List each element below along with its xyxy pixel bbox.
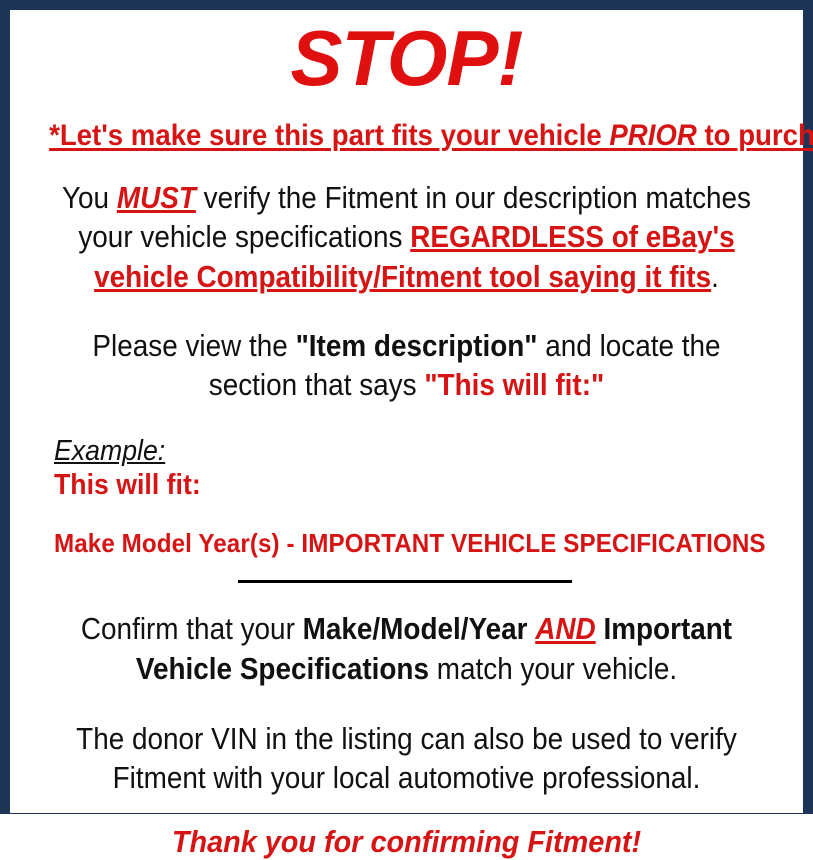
desc-emphasis-this-will-fit: "This will fit:"	[424, 367, 604, 402]
desc-emphasis-item-description: "Item description"	[296, 328, 538, 363]
example-spec-line: Make Model Year(s) - IMPORTANT VEHICLE S…	[54, 529, 743, 558]
confirm-emphasis-and: AND	[535, 611, 595, 646]
must-seg3: .	[711, 259, 719, 294]
subtitle-tail: to purchasing*	[697, 119, 813, 152]
confirm-emphasis-make-model-year: Make/Model/Year	[303, 611, 528, 646]
subtitle-emphasis-prior: PRIOR	[609, 119, 696, 152]
notice-content: STOP! *Let's make sure this part fits yo…	[10, 19, 803, 813]
confirm-seg1: Confirm that your	[81, 611, 303, 646]
must-seg1: You	[62, 180, 117, 215]
subtitle-lead: *Let's make sure this part fits your veh…	[49, 119, 609, 152]
subtitle-banner: *Let's make sure this part fits your veh…	[49, 119, 764, 152]
paragraph-confirm: Confirm that your Make/Model/Year AND Im…	[57, 609, 756, 688]
desc-seg1: Please view the	[92, 328, 295, 363]
example-label: Example:	[54, 435, 165, 467]
example-fit-heading: This will fit:	[54, 468, 736, 502]
thank-you-message: Thank you for confirming Fitment!	[45, 824, 768, 860]
must-emphasis: MUST	[117, 180, 196, 215]
page-title: STOP!	[18, 19, 795, 99]
confirm-seg4: match your vehicle.	[429, 651, 677, 686]
section-divider	[18, 579, 795, 583]
paragraph-item-description: Please view the "Item description" and l…	[57, 326, 756, 405]
confirm-seg2	[527, 611, 535, 646]
example-block: Example: This will fit: Make Model Year(…	[18, 435, 795, 557]
paragraph-must-verify: You MUST verify the Fitment in our descr…	[57, 178, 756, 297]
paragraph-donor-vin: The donor VIN in the listing can also be…	[57, 719, 756, 798]
divider-line	[238, 580, 572, 583]
fitment-notice-card: STOP! *Let's make sure this part fits yo…	[0, 0, 813, 814]
